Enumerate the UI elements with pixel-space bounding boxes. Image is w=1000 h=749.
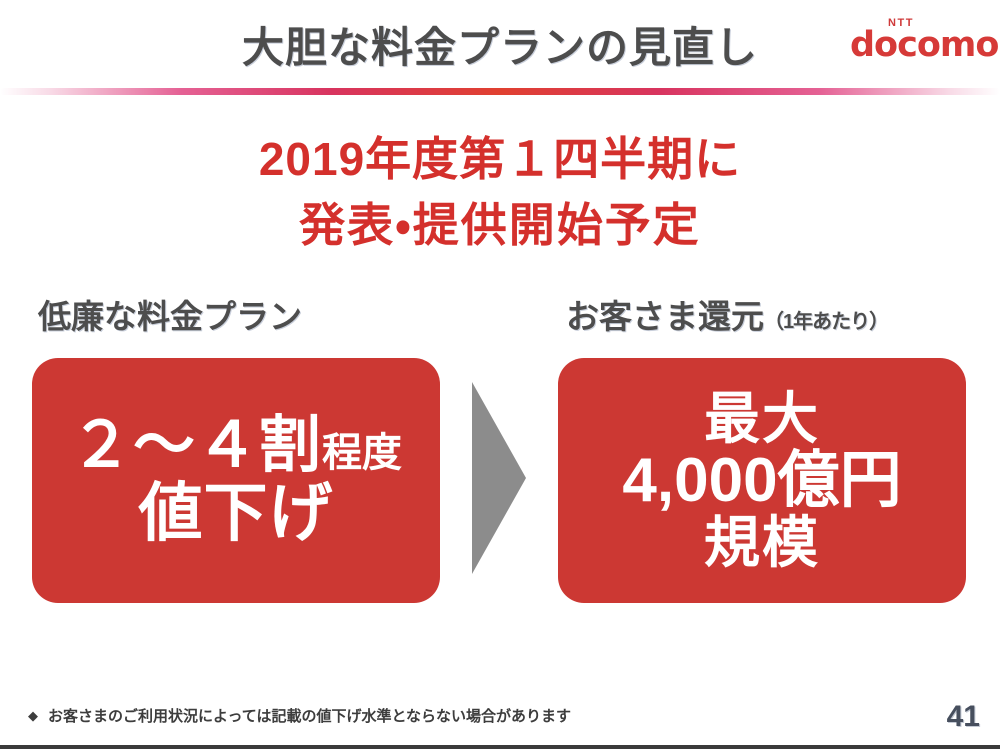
left-box-line-1-main: ２〜４割 <box>70 411 322 480</box>
slide-canvas: 大胆な料金プランの見直し NTT docomo 2019年度第１四半期に 発表・… <box>0 0 1000 749</box>
headline-block: 2019年度第１四半期に 発表・提供開始予定 <box>0 126 1000 258</box>
right-box-line-3: 規模 <box>704 514 820 571</box>
price-reduction-box: ２〜４割程度 値下げ <box>32 358 440 603</box>
left-column-label: 低廉な料金プラン <box>38 290 302 338</box>
right-column-label-text: お客さま還元 <box>566 298 764 335</box>
right-box-line-1: 最大 <box>704 390 820 447</box>
left-box-line-1: ２〜４割程度 <box>70 414 402 477</box>
right-column-label-sub: （1年あたり） <box>764 311 888 333</box>
headline-line-2: 発表・提供開始予定 <box>0 192 1000 258</box>
diamond-bullet-icon: ◆ <box>28 708 38 724</box>
footnote-text: お客さまのご利用状況によっては記載の値下げ水準とならない場合があります <box>48 705 571 726</box>
left-column-label-text: 低廉な料金プラン <box>38 298 302 335</box>
docomo-logo-text: docomo <box>850 29 986 62</box>
footnote: ◆ お客さまのご利用状況によっては記載の値下げ水準とならない場合があります <box>28 705 571 726</box>
page-number: 41 <box>947 700 980 734</box>
arrow-right-icon <box>472 382 526 574</box>
right-column-label: お客さま還元（1年あたり） <box>566 290 888 338</box>
left-box-line-1-small: 程度 <box>322 431 402 475</box>
header-divider-line <box>0 88 1000 95</box>
right-box-line-2: 4,000億円 <box>622 449 901 512</box>
docomo-logo: NTT docomo <box>850 18 986 70</box>
customer-return-box: 最大 4,000億円 規模 <box>558 358 966 603</box>
headline-line-1: 2019年度第１四半期に <box>0 126 1000 192</box>
left-box-line-2: 値下げ <box>139 481 334 546</box>
